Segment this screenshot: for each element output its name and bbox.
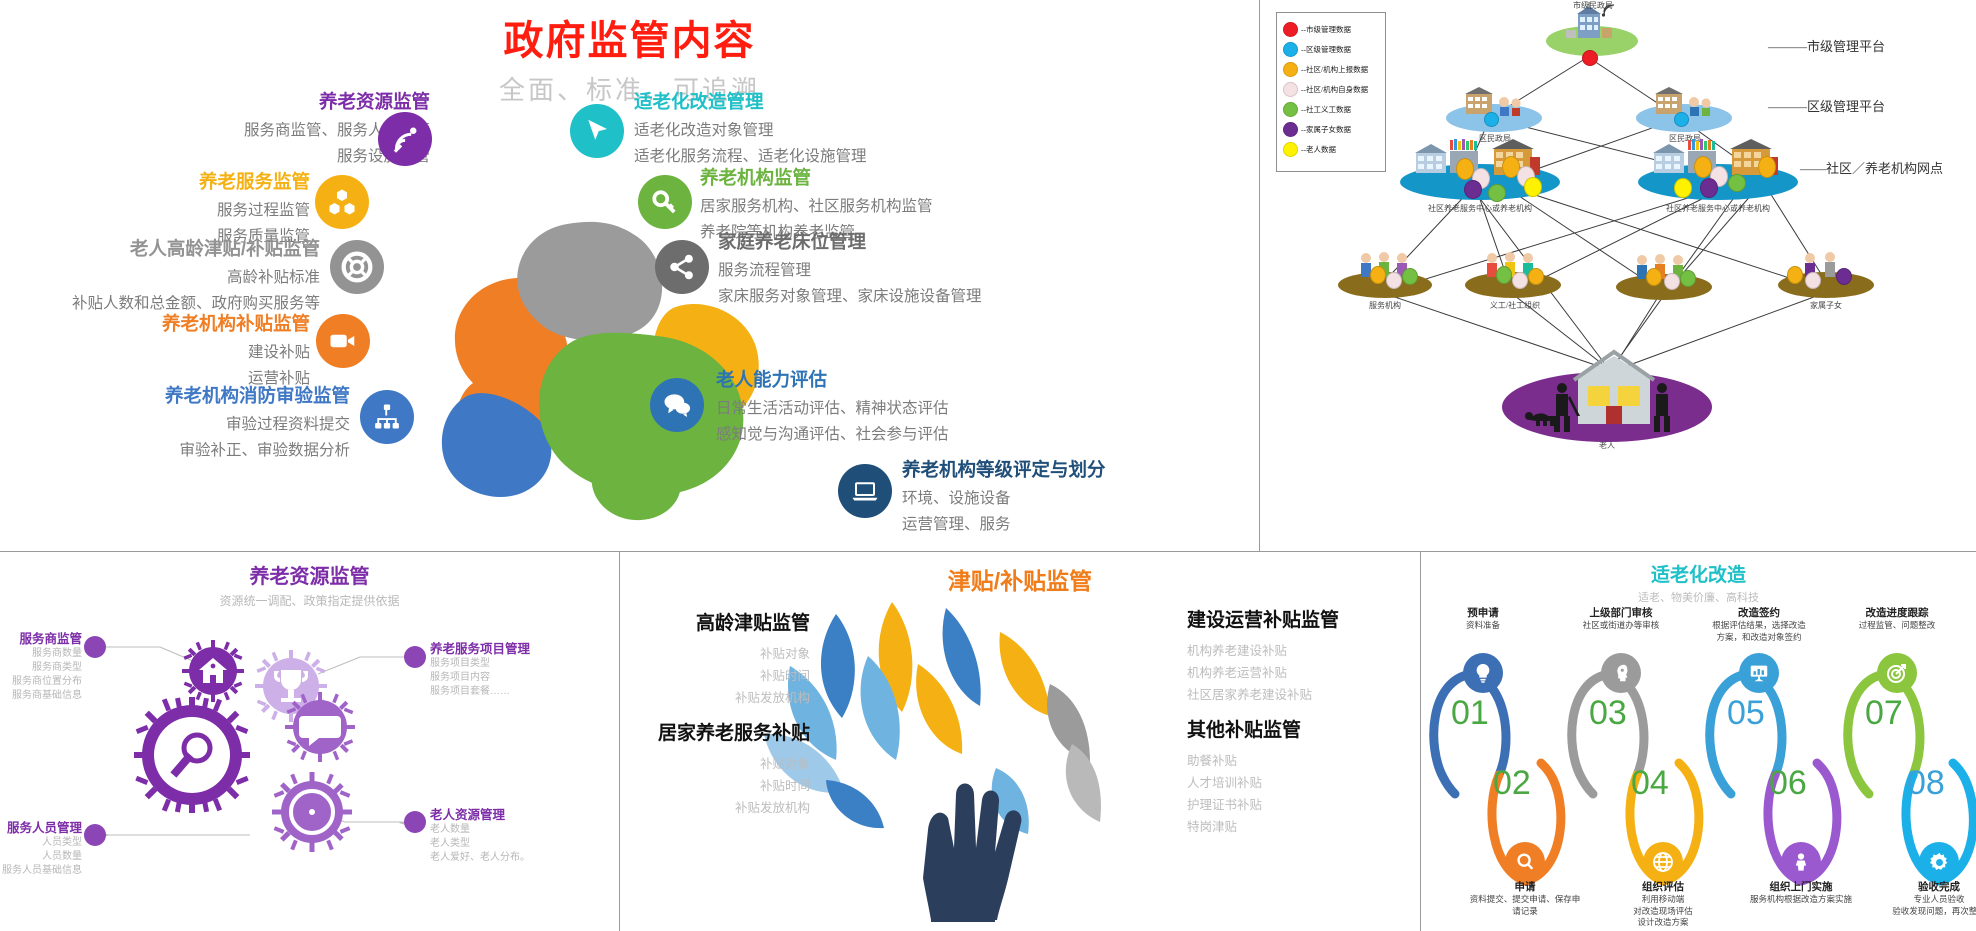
- step-7-caption: 验收完成 专业人员验收 验收发现问题，再次整改: [1864, 879, 1976, 917]
- block-left-1-line-0: 服务过程监管: [110, 198, 310, 224]
- node-dot-service-orange: [1370, 266, 1386, 284]
- node-dot-district-right-blue: [1674, 112, 1689, 127]
- leaf-block-3-line-2: 老人爱好、老人分布。: [430, 851, 615, 865]
- step-4-line-0: 根据评估结果，选择改造: [1684, 620, 1834, 632]
- br-title: 适老化改造: [1421, 560, 1976, 587]
- block-right-4: 养老机构等级评定与划分 环境、设施设备 运营管理、服务: [902, 456, 1322, 538]
- step-7-heading: 验收完成: [1864, 879, 1976, 894]
- leaf-block-0-line-2: 服务商位置分布: [0, 675, 82, 689]
- step-0-caption: 预申请 资料准备: [1408, 605, 1558, 632]
- speech-icon: [285, 692, 355, 762]
- node-caption-4: 社区养老服务中心或养老机构: [1618, 203, 1818, 214]
- step-7-line-1: 验收发现问题，再次整改: [1864, 906, 1976, 918]
- laptop-icon: [838, 464, 892, 518]
- leaf-block-1-heading: 养老服务项目管理: [430, 638, 615, 657]
- block-left-2-line-0: 高龄补贴标准: [0, 265, 320, 291]
- lightbulb-icon: [1463, 653, 1503, 693]
- block-left-0-heading: 养老资源监管: [80, 88, 430, 114]
- block-right-4-heading: 养老机构等级评定与划分: [902, 456, 1322, 482]
- panel-government-supervision: 政府监管内容 全面、标准、可追溯 养老资源监管 服务商监管、服务人员监管 服务设…: [0, 0, 1259, 551]
- step-0-heading: 预申请: [1408, 605, 1558, 620]
- bc-title: 津贴/补贴监管: [620, 562, 1420, 596]
- node-dot-service-pink: [1386, 272, 1402, 289]
- block-left-0-line-1: 服务设施监管: [80, 144, 430, 170]
- step-4-line-1: 方案，和改造对象签约: [1684, 632, 1834, 644]
- panel-data-hierarchy-diagram: --市级管理数据 --区级管理数据 --社区/机构上报数据 --社区/机构自身数…: [1260, 0, 1976, 551]
- node-dot-volunteer-pink: [1512, 272, 1528, 289]
- step-6-caption: 改造进度跟踪 过程监管、问题整改: [1822, 605, 1972, 632]
- slide-canvas: 政府监管内容 全面、标准、可追溯 养老资源监管 服务商监管、服务人员监管 服务设…: [0, 0, 1976, 931]
- platform-label-2: ——社区／养老机构网点: [1800, 158, 1943, 177]
- video-camera-icon: [316, 314, 370, 368]
- node-caption-8: 老人: [1562, 440, 1652, 451]
- node-dot-community-right-yellow: [1674, 178, 1692, 198]
- elderly-home-icon: [1522, 340, 1702, 436]
- step-3-heading: 组织评估: [1588, 879, 1738, 894]
- block-left-4: 养老机构消防审验监管 审验过程资料提交 审验补正、审验数据分析: [0, 382, 350, 464]
- nub-bottom-right: [404, 811, 426, 833]
- br-title-group: 适老化改造 适老、物美价廉、高科技: [1421, 560, 1976, 605]
- leaf-block-0-heading: 服务商监管: [0, 628, 82, 647]
- globe-icon: [1643, 842, 1683, 882]
- nub-top-right: [404, 646, 426, 668]
- gear-icon: [1919, 842, 1959, 882]
- bc-left-block-0-line-0: 补贴对象: [610, 643, 810, 665]
- step-0-line-0: 资料准备: [1408, 620, 1558, 632]
- leaf-block-2-line-2: 服务人员基础信息: [0, 864, 82, 878]
- step-5-line-0: 服务机构根据改造方案实施: [1726, 894, 1876, 906]
- step-2-line-0: 社区或街道办等审核: [1546, 620, 1696, 632]
- leaf-block-1-line-1: 服务项目内容: [430, 671, 615, 685]
- step-3-number: 04: [1631, 764, 1669, 803]
- key-icon: [638, 175, 692, 229]
- block-right-2-line-0: 服务流程管理: [718, 258, 1138, 284]
- bc-left-block-0: 高龄津贴监管 补贴对象 补贴时间 补贴发放机构: [610, 608, 810, 709]
- sitemap-icon: [360, 390, 414, 444]
- block-left-2-heading: 老人高龄津贴/补贴监管: [0, 235, 320, 261]
- node-caption-7: 家属子女: [1778, 300, 1874, 311]
- node-dot-service-green: [1402, 268, 1418, 285]
- person-icon: [1781, 842, 1821, 882]
- bc-left-block-0-line-2: 补贴发放机构: [610, 687, 810, 709]
- step-4-heading: 改造签约: [1684, 605, 1834, 620]
- bc-right-block-0-heading: 建设运营补贴监管: [1187, 605, 1427, 632]
- block-right-0: 适老化改造管理 适老化改造对象管理 适老化服务流程、适老化设施管理: [634, 88, 1054, 170]
- step-4-caption: 改造签约 根据评估结果，选择改造 方案，和改造对象签约: [1684, 605, 1834, 643]
- block-left-4-line-1: 审验补正、审验数据分析: [0, 438, 350, 464]
- bc-left-block-0-heading: 高龄津贴监管: [610, 608, 810, 635]
- step-7-line-0: 专业人员验收: [1864, 894, 1976, 906]
- block-right-3-heading: 老人能力评估: [716, 366, 1136, 392]
- boxes-icon: [315, 175, 369, 229]
- leaf-block-1: 养老服务项目管理 服务项目类型 服务项目内容 服务项目套餐……: [430, 638, 615, 699]
- step-6-number: 07: [1865, 694, 1903, 733]
- compass-icon: [272, 772, 352, 852]
- node-caption-3: 社区养老服务中心或养老机构: [1380, 203, 1580, 214]
- leaf-block-1-line-0: 服务项目类型: [430, 657, 615, 671]
- block-right-0-line-0: 适老化改造对象管理: [634, 118, 1054, 144]
- presentation-chart-icon: [1739, 653, 1779, 693]
- leaf-block-1-line-2: 服务项目套餐……: [430, 685, 615, 699]
- leaf-block-0-line-1: 服务商类型: [0, 661, 82, 675]
- bc-right-block-1-line-0: 助餐补贴: [1187, 750, 1427, 772]
- chat-bubble-icon: [650, 378, 704, 432]
- lifebuoy-icon: [330, 240, 384, 294]
- panel-elderly-resource-supervision: 养老资源监管 资源统一调配、政策指定提供依据: [0, 552, 619, 931]
- block-right-3-line-0: 日常生活活动评估、精神状态评估: [716, 396, 1136, 422]
- block-right-2-heading: 家庭养老床位管理: [718, 228, 1138, 254]
- bc-left-block-1-heading: 居家养老服务补贴: [560, 718, 810, 745]
- magnifier-icon-step-02: [1505, 842, 1545, 882]
- bc-right-block-1-heading: 其他补贴监管: [1187, 715, 1427, 742]
- page-title: 政府监管内容: [0, 8, 1259, 66]
- step-1-line-1: 请记录: [1450, 906, 1600, 918]
- step-3-line-1: 对改造现场评估: [1588, 906, 1738, 918]
- bc-right-block-1-line-1: 人才培训补贴: [1187, 772, 1427, 794]
- node-dot-mid-orange: [1646, 268, 1662, 286]
- step-2-caption: 上级部门审核 社区或街道办等审核: [1546, 605, 1696, 632]
- step-1-caption: 申请 资料提交、提交申请、保存申 请记录: [1450, 879, 1600, 917]
- bc-left-block-1-line-2: 补贴发放机构: [560, 797, 810, 819]
- block-right-0-heading: 适老化改造管理: [634, 88, 1054, 114]
- block-left-4-line-0: 审验过程资料提交: [0, 412, 350, 438]
- block-right-4-line-1: 运营管理、服务: [902, 512, 1322, 538]
- node-dot-community-left-purple: [1464, 180, 1482, 199]
- step-6-line-0: 过程监管、问题整改: [1822, 620, 1972, 632]
- target-icon: [1877, 653, 1917, 693]
- leaf-block-0: 服务商监管 服务商数量 服务商类型 服务商位置分布 服务商基础信息: [0, 628, 82, 703]
- step-1-line-0: 资料提交、提交申请、保存申: [1450, 894, 1600, 906]
- node-dot-community-right-purple: [1700, 178, 1718, 198]
- leaf-block-2: 服务人员管理 人员类型 人员数量 服务人员基础信息: [0, 817, 82, 878]
- bc-right-block-0-line-2: 社区居家养老建设补贴: [1187, 684, 1427, 706]
- step-0-number: 01: [1451, 694, 1489, 733]
- bc-left-block-1-line-0: 补贴对象: [560, 753, 810, 775]
- step-6-heading: 改造进度跟踪: [1822, 605, 1972, 620]
- block-left-2: 老人高龄津贴/补贴监管 高龄补贴标准 补贴人数和总金额、政府购买服务等: [0, 235, 320, 317]
- step-1-heading: 申请: [1450, 879, 1600, 894]
- node-dot-volunteer-orange: [1528, 268, 1544, 285]
- share-nodes-icon: [655, 240, 709, 294]
- block-right-3: 老人能力评估 日常生活活动评估、精神状态评估 感知觉与沟通评估、社会参与评估: [716, 366, 1136, 448]
- node-dot-family-orange: [1787, 266, 1803, 284]
- leaf-block-2-line-1: 人员数量: [0, 850, 82, 864]
- bc-right-block-1-line-2: 护理证书补贴: [1187, 794, 1427, 816]
- bc-right-block-0-line-0: 机构养老建设补贴: [1187, 640, 1427, 662]
- step-2-number: 03: [1589, 694, 1627, 733]
- satellite-dish-icon: [378, 112, 432, 166]
- leaf-block-0-line-3: 服务商基础信息: [0, 689, 82, 703]
- block-left-4-heading: 养老机构消防审验监管: [0, 382, 350, 408]
- block-right-1-heading: 养老机构监管: [700, 164, 1120, 190]
- bc-right-block-1-line-3: 特岗津贴: [1187, 816, 1427, 838]
- step-5-heading: 组织上门实施: [1726, 879, 1876, 894]
- node-dot-district-left-blue: [1484, 112, 1499, 127]
- block-right-2: 家庭养老床位管理 服务流程管理 家床服务对象管理、家床设施设备管理: [718, 228, 1138, 310]
- panel-subsidy-supervision: 津贴/补贴监管 高: [620, 552, 1420, 931]
- bc-right-block-0-line-1: 机构养老运营补贴: [1187, 662, 1427, 684]
- node-dot-community-left-green: [1488, 184, 1506, 202]
- step-3-line-0: 利用移动端: [1588, 894, 1738, 906]
- node-dot-mid-pink: [1664, 273, 1680, 290]
- step-1-number: 02: [1493, 764, 1531, 803]
- step-4-number: 05: [1727, 694, 1765, 733]
- block-right-4-line-0: 环境、设施设备: [902, 486, 1322, 512]
- head-idea-icon: [1601, 653, 1641, 693]
- hand-leaves-illustration: [750, 592, 1180, 922]
- node-dot-volunteer-green: [1496, 266, 1512, 284]
- nub-top-left: [84, 636, 106, 658]
- nub-bottom-left: [84, 824, 106, 846]
- bc-left-block-1-line-1: 补贴时间: [560, 775, 810, 797]
- step-3-caption: 组织评估 利用移动端 对改造现场评估 设计改造方案: [1588, 879, 1738, 929]
- node-caption-5: 服务机构: [1335, 300, 1435, 311]
- br-subtitle: 适老、物美价廉、高科技: [1421, 589, 1976, 605]
- block-left-3-line-0: 建设补贴: [80, 340, 310, 366]
- node-caption-0: 市级民政局: [1548, 0, 1638, 11]
- leaf-block-2-heading: 服务人员管理: [0, 817, 82, 836]
- home-icon: [182, 640, 244, 702]
- block-left-3-heading: 养老机构补贴监管: [80, 310, 310, 336]
- cursor-arrow-icon: [570, 104, 624, 158]
- block-right-2-line-1: 家床服务对象管理、家床设施设备管理: [718, 284, 1138, 310]
- magnifier-icon: [134, 697, 250, 813]
- step-5-caption: 组织上门实施 服务机构根据改造方案实施: [1726, 879, 1876, 906]
- platform-label-0: ———市级管理平台: [1768, 36, 1885, 55]
- node-dot-family-pink: [1805, 272, 1821, 289]
- block-right-1-line-0: 居家服务机构、社区服务机构监管: [700, 194, 1120, 220]
- block-left-1-heading: 养老服务监管: [110, 168, 310, 194]
- step-3-line-2: 设计改造方案: [1588, 917, 1738, 929]
- node-dot-community-left-yellow: [1524, 177, 1542, 197]
- node-dot-city-red: [1582, 50, 1598, 66]
- step-5-number: 06: [1769, 764, 1807, 803]
- step-7-number: 08: [1907, 764, 1945, 803]
- bc-right-block-0: 建设运营补贴监管 机构养老建设补贴 机构养老运营补贴 社区居家养老建设补贴: [1187, 605, 1427, 706]
- leaf-block-3-line-1: 老人类型: [430, 837, 615, 851]
- bc-right-block-1: 其他补贴监管 助餐补贴 人才培训补贴 护理证书补贴 特岗津贴: [1187, 715, 1427, 838]
- block-left-3: 养老机构补贴监管 建设补贴 运营补贴: [80, 310, 310, 392]
- node-caption-6: 义工/社工组织: [1460, 300, 1570, 311]
- leaf-block-3-line-0: 老人数量: [430, 823, 615, 837]
- block-right-3-line-1: 感知觉与沟通评估、社会参与评估: [716, 422, 1136, 448]
- node-dot-mid-green: [1680, 270, 1696, 287]
- node-dot-community-right-orange-2: [1758, 156, 1776, 178]
- panel-aging-friendly-renovation: 适老化改造 适老、物美价廉、高科技: [1421, 552, 1976, 931]
- platform-label-1: ———区级管理平台: [1768, 96, 1885, 115]
- leaf-block-2-line-0: 人员类型: [0, 836, 82, 850]
- bc-left-block-0-line-1: 补贴时间: [610, 665, 810, 687]
- node-dot-family-purple: [1836, 268, 1852, 285]
- bc-left-block-1: 居家养老服务补贴 补贴对象 补贴时间 补贴发放机构: [560, 718, 810, 819]
- node-dot-community-right-green: [1728, 174, 1746, 192]
- block-left-0: 养老资源监管 服务商监管、服务人员监管 服务设施监管: [80, 88, 430, 170]
- leaf-block-0-line-0: 服务商数量: [0, 647, 82, 661]
- step-2-heading: 上级部门审核: [1546, 605, 1696, 620]
